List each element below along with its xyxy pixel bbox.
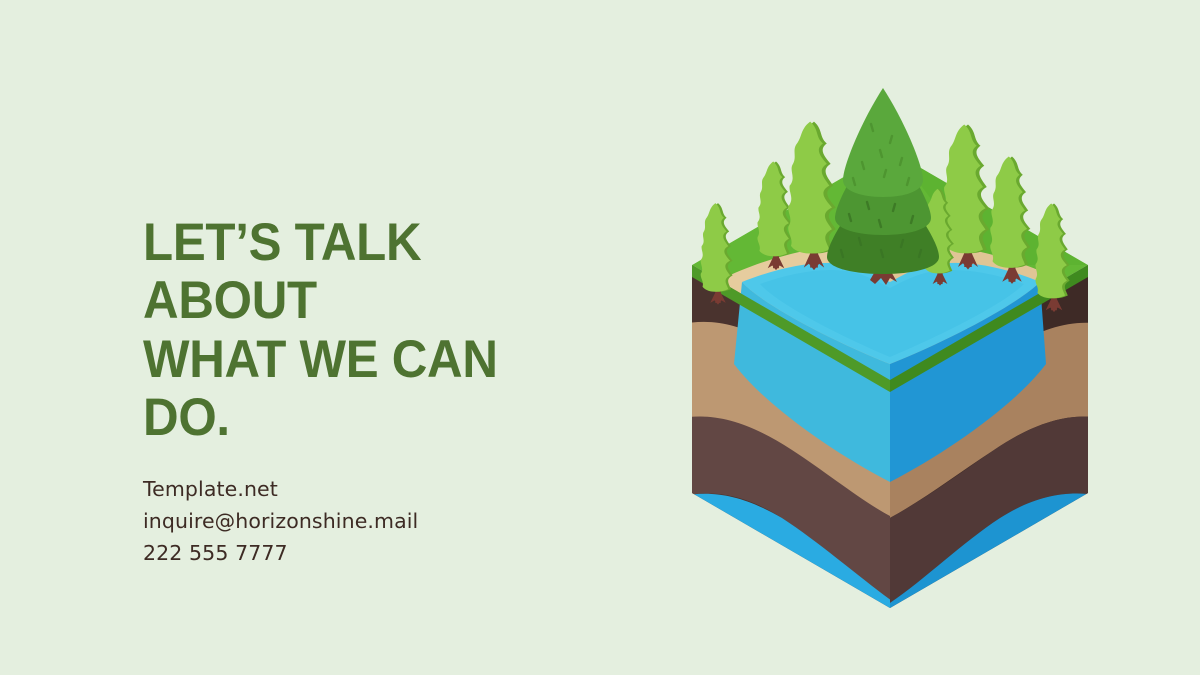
contact-website[interactable]: Template.net — [143, 474, 613, 506]
contact-phone[interactable]: 222 555 7777 — [143, 538, 613, 570]
contact-email[interactable]: inquire@horizonshine.mail — [143, 506, 613, 538]
page-title: LET’S TALK ABOUT WHAT WE CAN DO. — [143, 214, 580, 447]
text-block: LET’S TALK ABOUT WHAT WE CAN DO. Templat… — [143, 214, 613, 570]
soil-cross-section-illustration — [672, 52, 1112, 632]
contact-list: Template.net inquire@horizonshine.mail 2… — [143, 447, 613, 570]
slide-canvas: LET’S TALK ABOUT WHAT WE CAN DO. Templat… — [0, 0, 1200, 675]
cypress-tree — [943, 125, 989, 270]
